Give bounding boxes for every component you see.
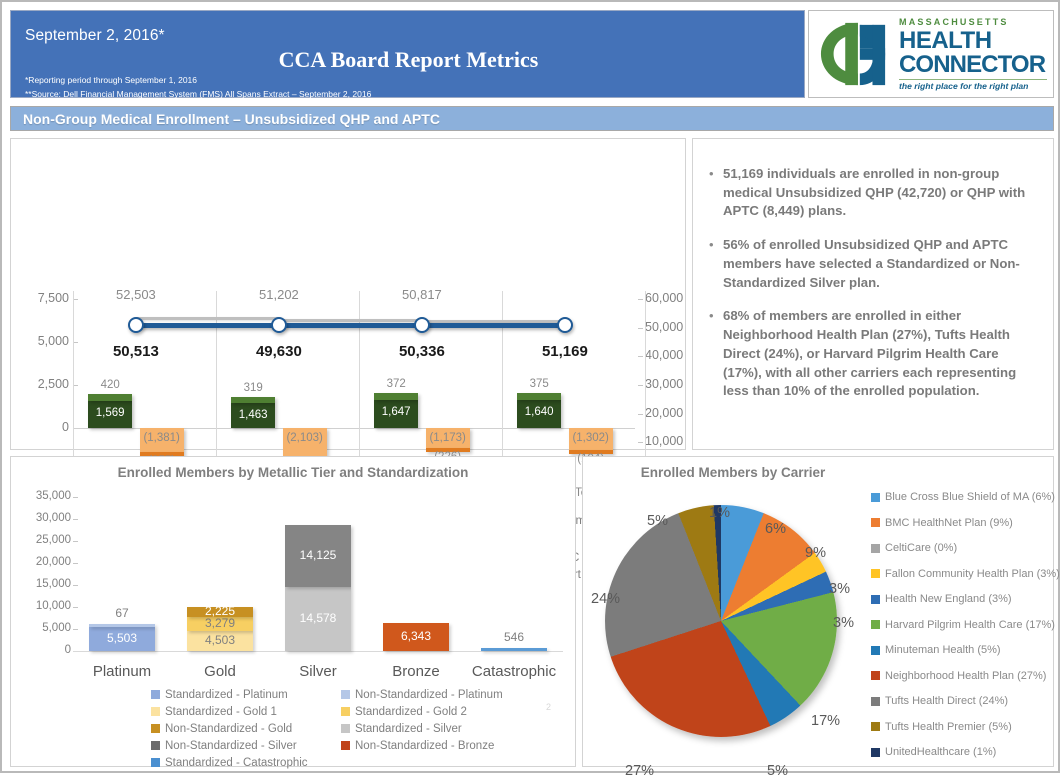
bar-added-qhp-aptc [88,394,132,401]
key-finding-text: 68% of members are enrolled in either Ne… [723,307,1041,401]
report-page: September 2, 2016* CCA Board Report Metr… [0,0,1060,773]
pie-percentage-label: 3% [829,581,850,597]
bar-added-qhp-aptc [374,393,418,399]
tier-y-axis-tick-label: 20,000 [13,556,71,568]
tier-y-axis-tick [73,629,78,630]
page-title: CCA Board Report Metrics [11,47,806,73]
key-finding-item: •51,169 individuals are enrolled in non-… [709,165,1041,221]
tier-bar-value-label: 67 [79,606,165,620]
bar-label-termed-unsubsidized: (2,103) [277,432,333,444]
bar-label-added-aptc: 420 [88,379,132,391]
bar-label-added-aptc: 372 [374,378,418,390]
legend-label: Fallon Community Health Plan (3%) [885,568,1060,580]
bar-added-qhp-aptc [231,397,275,402]
y-axis-left-tick-label: 0 [11,420,69,434]
y-axis-right-tick [638,299,643,300]
pie-percentage-label: 5% [647,513,668,529]
legend-label: Blue Cross Blue Shield of MA (6%) [885,491,1055,503]
legend-label: Standardized - Gold 2 [355,706,467,718]
y-axis-left-tick-label: 5,000 [11,334,69,348]
legend-swatch [871,620,880,629]
tier-legend-item: Standardized - Catastrophic [151,757,308,769]
legend-label: UnitedHealthcare (1%) [885,746,996,758]
tier-bar-value-label: 6,343 [383,629,449,643]
pie-percentage-label: 17% [811,713,840,729]
line-label-initial-report-date: 52,503 [81,287,191,302]
tier-bar-segment [481,648,547,651]
legend-swatch [871,671,880,680]
carrier-pie [605,505,837,737]
line-label-enrollment-report-date: 50,336 [362,343,482,360]
legend-label: Non-Standardized - Platinum [355,689,503,701]
carrier-legend-item: Neighborhood Health Plan (27%) [871,670,1046,682]
bullet-dot-icon: • [709,236,723,292]
legend-label: Tufts Health Premier (5%) [885,721,1012,733]
tier-x-axis-line [73,651,563,652]
tier-bar-value-label: 14,125 [285,548,351,562]
carrier-legend-item: UnitedHealthcare (1%) [871,746,996,758]
line-enrollment-report-date [136,323,279,328]
tier-y-axis-tick [73,607,78,608]
tier-y-axis-tick-label: 5,000 [13,622,71,634]
header-footnote-2: **Source: Dell Financial Management Syst… [25,89,371,99]
tier-y-axis-tick [73,541,78,542]
key-finding-text: 51,169 individuals are enrolled in non-g… [723,165,1041,221]
report-date: September 2, 2016* [25,27,165,45]
legend-swatch [151,741,160,750]
legend-label: Non-Standardized - Gold [165,723,292,735]
bullet-dot-icon: • [709,165,723,221]
legend-label: Non-Standardized - Silver [165,740,297,752]
tier-legend-item: Non-Standardized - Silver [151,740,297,752]
tier-x-axis-category-label: Catastrophic [453,663,575,680]
legend-swatch [871,697,880,706]
legend-swatch [151,724,160,733]
bar-label-added-aptc: 375 [517,378,561,390]
y-axis-right-tick-label: 40,000 [645,348,683,362]
tier-bar-value-label: 3,279 [187,616,253,630]
line-label-initial-report-date: 50,817 [367,287,477,302]
tier-bar-value-label: 14,578 [285,611,351,625]
legend-swatch [871,748,880,757]
legend-swatch [341,741,350,750]
bar-label-termed-unsubsidized: (1,381) [134,432,190,444]
tier-y-axis-tick-label: 25,000 [13,534,71,546]
tier-bar-value-label: 4,503 [187,633,253,647]
legend-label: Minuteman Health (5%) [885,644,1001,656]
key-finding-item: •56% of enrolled Unsubsidized QHP and AP… [709,236,1041,292]
tier-y-axis-tick-label: 10,000 [13,600,71,612]
enrollment-flow-chart: 7,5005,0002,5000(2,500)60,00050,00040,00… [11,139,687,451]
legend-swatch [151,707,160,716]
legend-swatch [871,518,880,527]
metallic-tier-chart: 35,00030,00025,00020,00015,00010,0005,00… [11,457,577,768]
logo-divider [899,79,1047,80]
y-axis-right-tick-label: 20,000 [645,406,683,420]
logo-state-label: MASSACHUSETTS [899,18,1047,27]
tier-legend-item: Non-Standardized - Gold [151,723,292,735]
y-axis-left-tick-label: 2,500 [11,377,69,391]
tier-chart-footnote-marker: 2 [546,702,551,712]
legend-swatch [341,690,350,699]
y-axis-right-tick [638,414,643,415]
bar-label-added-unsubsidized: 1,647 [374,406,418,418]
legend-label: CeltiCare (0%) [885,542,957,554]
report-header: September 2, 2016* CCA Board Report Metr… [10,10,805,98]
line-initial-report-date [279,319,422,322]
tier-legend-item: Standardized - Platinum [151,689,288,701]
pie-percentage-label: 1% [709,505,730,521]
line-label-enrollment-report-date: 50,513 [76,343,196,360]
legend-swatch [341,707,350,716]
legend-label: Neighborhood Health Plan (27%) [885,670,1046,682]
carrier-legend-item: Fallon Community Health Plan (3%) [871,568,1060,580]
tier-bar-value-label: 2,225 [187,604,253,618]
tier-legend-item: Standardized - Gold 2 [341,706,467,718]
line-marker-enrollment [557,317,573,333]
metallic-tier-chart-panel: Enrolled Members by Metallic Tier and St… [10,456,576,767]
y-axis-right-tick-label: 50,000 [645,320,683,334]
line-marker-enrollment [271,317,287,333]
y-axis-right-tick [638,356,643,357]
key-finding-text: 56% of enrolled Unsubsidized QHP and APT… [723,236,1041,292]
bar-label-added-unsubsidized: 1,463 [231,409,275,421]
carrier-legend-item: Tufts Health Direct (24%) [871,695,1008,707]
legend-swatch [871,493,880,502]
tier-bar-segment [89,624,155,627]
line-label-enrollment-report-date: 51,169 [505,343,625,360]
tier-y-axis-tick [73,497,78,498]
bar-label-added-unsubsidized: 1,640 [517,406,561,418]
tier-y-axis-tick [73,519,78,520]
carrier-legend-item: BMC HealthNet Plan (9%) [871,517,1013,529]
legend-label: Standardized - Silver [355,723,462,735]
line-label-initial-report-date: 51,202 [224,287,334,302]
bar-label-added-unsubsidized: 1,569 [88,407,132,419]
carrier-legend-item: CeltiCare (0%) [871,542,957,554]
legend-swatch [151,690,160,699]
bar-added-qhp-aptc [517,393,561,399]
legend-label: Standardized - Gold 1 [165,706,277,718]
carrier-pie-chart-panel: Enrolled Members by Carrier 6%9%3%3%17%5… [582,456,1054,767]
header-footnote-1: *Reporting period through September 1, 2… [25,75,197,85]
bar-label-termed-unsubsidized: (1,302) [563,432,619,444]
y-axis-right-tick [638,442,643,443]
y-axis-right-tick-label: 10,000 [645,434,683,448]
tier-legend-item: Standardized - Silver [341,723,462,735]
legend-swatch [871,595,880,604]
pie-percentage-label: 3% [833,615,854,631]
logo-connector-label: CONNECTOR [899,53,1047,77]
tier-legend-item: Standardized - Gold 1 [151,706,277,718]
tier-legend-item: Non-Standardized - Platinum [341,689,503,701]
connector-h-icon [815,19,893,89]
legend-swatch [871,544,880,553]
legend-swatch [871,722,880,731]
y-axis-right-tick [638,328,643,329]
logo-tagline: the right place for the right plan [899,82,1047,91]
carrier-legend-item: Harvard Pilgrim Health Care (17%) [871,619,1055,631]
tier-legend-item: Non-Standardized - Bronze [341,740,494,752]
key-findings-panel: •51,169 individuals are enrolled in non-… [692,138,1054,450]
line-marker-enrollment [414,317,430,333]
y-axis-right-tick-label: 30,000 [645,377,683,391]
carrier-legend-item: Minuteman Health (5%) [871,644,1001,656]
legend-label: Tufts Health Direct (24%) [885,695,1008,707]
tier-y-axis-tick-label: 15,000 [13,578,71,590]
carrier-legend-item: Health New England (3%) [871,593,1012,605]
line-initial-report-date [136,317,279,320]
pie-percentage-label: 9% [805,545,826,561]
pie-percentage-label: 27% [625,763,654,779]
tier-y-axis-tick-label: 0 [13,644,71,656]
legend-label: Harvard Pilgrim Health Care (17%) [885,619,1055,631]
legend-label: Non-Standardized - Bronze [355,740,494,752]
legend-label: Health New England (3%) [885,593,1012,605]
logo-health-label: HEALTH [899,29,1047,53]
section-header-bar: Non-Group Medical Enrollment – Unsubsidi… [10,106,1054,131]
health-connector-logo: MASSACHUSETTS HEALTH CONNECTOR the right… [808,10,1054,98]
enrollment-flow-chart-panel: 7,5005,0002,5000(2,500)60,00050,00040,00… [10,138,686,450]
y-axis-right-tick [638,385,643,386]
legend-swatch [341,724,350,733]
tier-y-axis-tick [73,585,78,586]
legend-label: BMC HealthNet Plan (9%) [885,517,1013,529]
legend-swatch [871,646,880,655]
key-findings-list: •51,169 individuals are enrolled in non-… [709,165,1041,416]
y-axis-left-tick-label: 7,500 [11,291,69,305]
section-title: Non-Group Medical Enrollment – Unsubsidi… [23,111,440,127]
bullet-dot-icon: • [709,307,723,401]
legend-swatch [151,758,160,767]
carrier-pie-wrapper: 6%9%3%3%17%5%27%24%5%1% [597,495,849,747]
tier-y-axis-tick-label: 35,000 [13,490,71,502]
tier-bar-value-label: 5,503 [89,631,155,645]
carrier-legend-item: Blue Cross Blue Shield of MA (6%) [871,491,1055,503]
legend-swatch [871,569,880,578]
bar-label-added-aptc: 319 [231,382,275,394]
key-finding-item: •68% of members are enrolled in either N… [709,307,1041,401]
tier-y-axis-tick-label: 30,000 [13,512,71,524]
line-enrollment-report-date [422,323,565,328]
pie-percentage-label: 24% [591,591,620,607]
carrier-pie-chart: 6%9%3%3%17%5%27%24%5%1%Blue Cross Blue S… [583,457,1055,768]
carrier-legend-item: Tufts Health Premier (5%) [871,721,1012,733]
legend-label: Standardized - Catastrophic [165,757,308,769]
tier-bar-value-label: 546 [471,630,557,644]
y-axis-right-tick-label: 60,000 [645,291,683,305]
line-marker-enrollment [128,317,144,333]
bar-label-termed-unsubsidized: (1,173) [420,432,476,444]
line-enrollment-report-date [279,323,422,328]
pie-percentage-label: 5% [767,763,788,779]
line-label-enrollment-report-date: 49,630 [219,343,339,360]
pie-percentage-label: 6% [765,521,786,537]
legend-label: Standardized - Platinum [165,689,288,701]
tier-y-axis-tick [73,563,78,564]
